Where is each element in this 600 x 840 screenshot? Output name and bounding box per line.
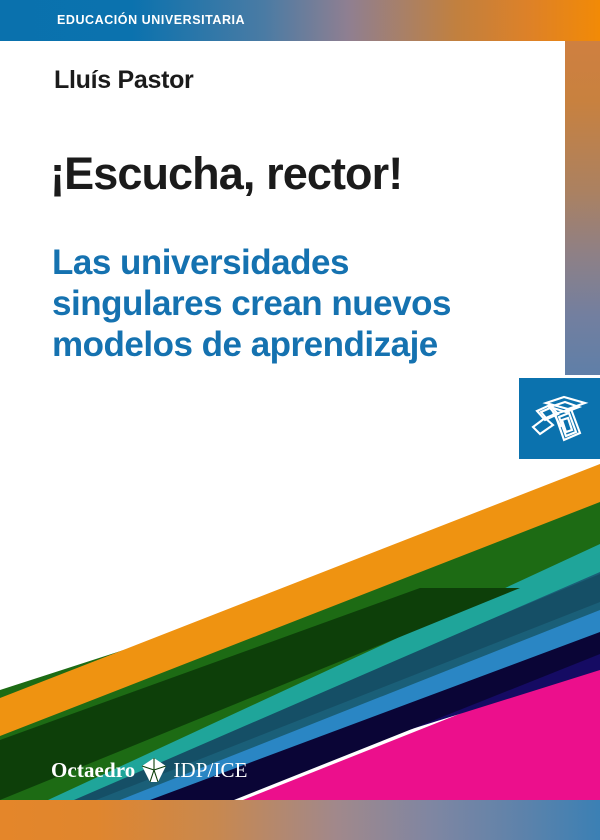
octahedron-icon xyxy=(141,757,167,783)
diagonal-stripe-artwork xyxy=(0,440,600,800)
subtitle: Las universidades singulares crean nuevo… xyxy=(52,242,492,365)
subtitle-line: Las universidades xyxy=(52,242,492,283)
bottom-gradient-bar xyxy=(0,800,600,840)
book-cover: EDUCACIÓN UNIVERSITARIA xyxy=(0,0,600,840)
subtitle-line: singulares crean nuevos xyxy=(52,283,492,324)
publisher-wordmark: Octaedro xyxy=(51,760,135,781)
series-label: EDUCACIÓN UNIVERSITARIA xyxy=(57,13,245,27)
subtitle-line: modelos de aprendizaje xyxy=(52,324,492,365)
page-title: ¡Escucha, rector! xyxy=(50,148,402,200)
publisher-imprint: IDP/ICE xyxy=(173,760,247,781)
publisher-logo: Octaedro IDP/ICE xyxy=(51,757,248,783)
author-name: Lluís Pastor xyxy=(54,66,194,95)
right-rail-gradient-stripe xyxy=(565,41,600,375)
series-banner: EDUCACIÓN UNIVERSITARIA xyxy=(0,0,600,41)
